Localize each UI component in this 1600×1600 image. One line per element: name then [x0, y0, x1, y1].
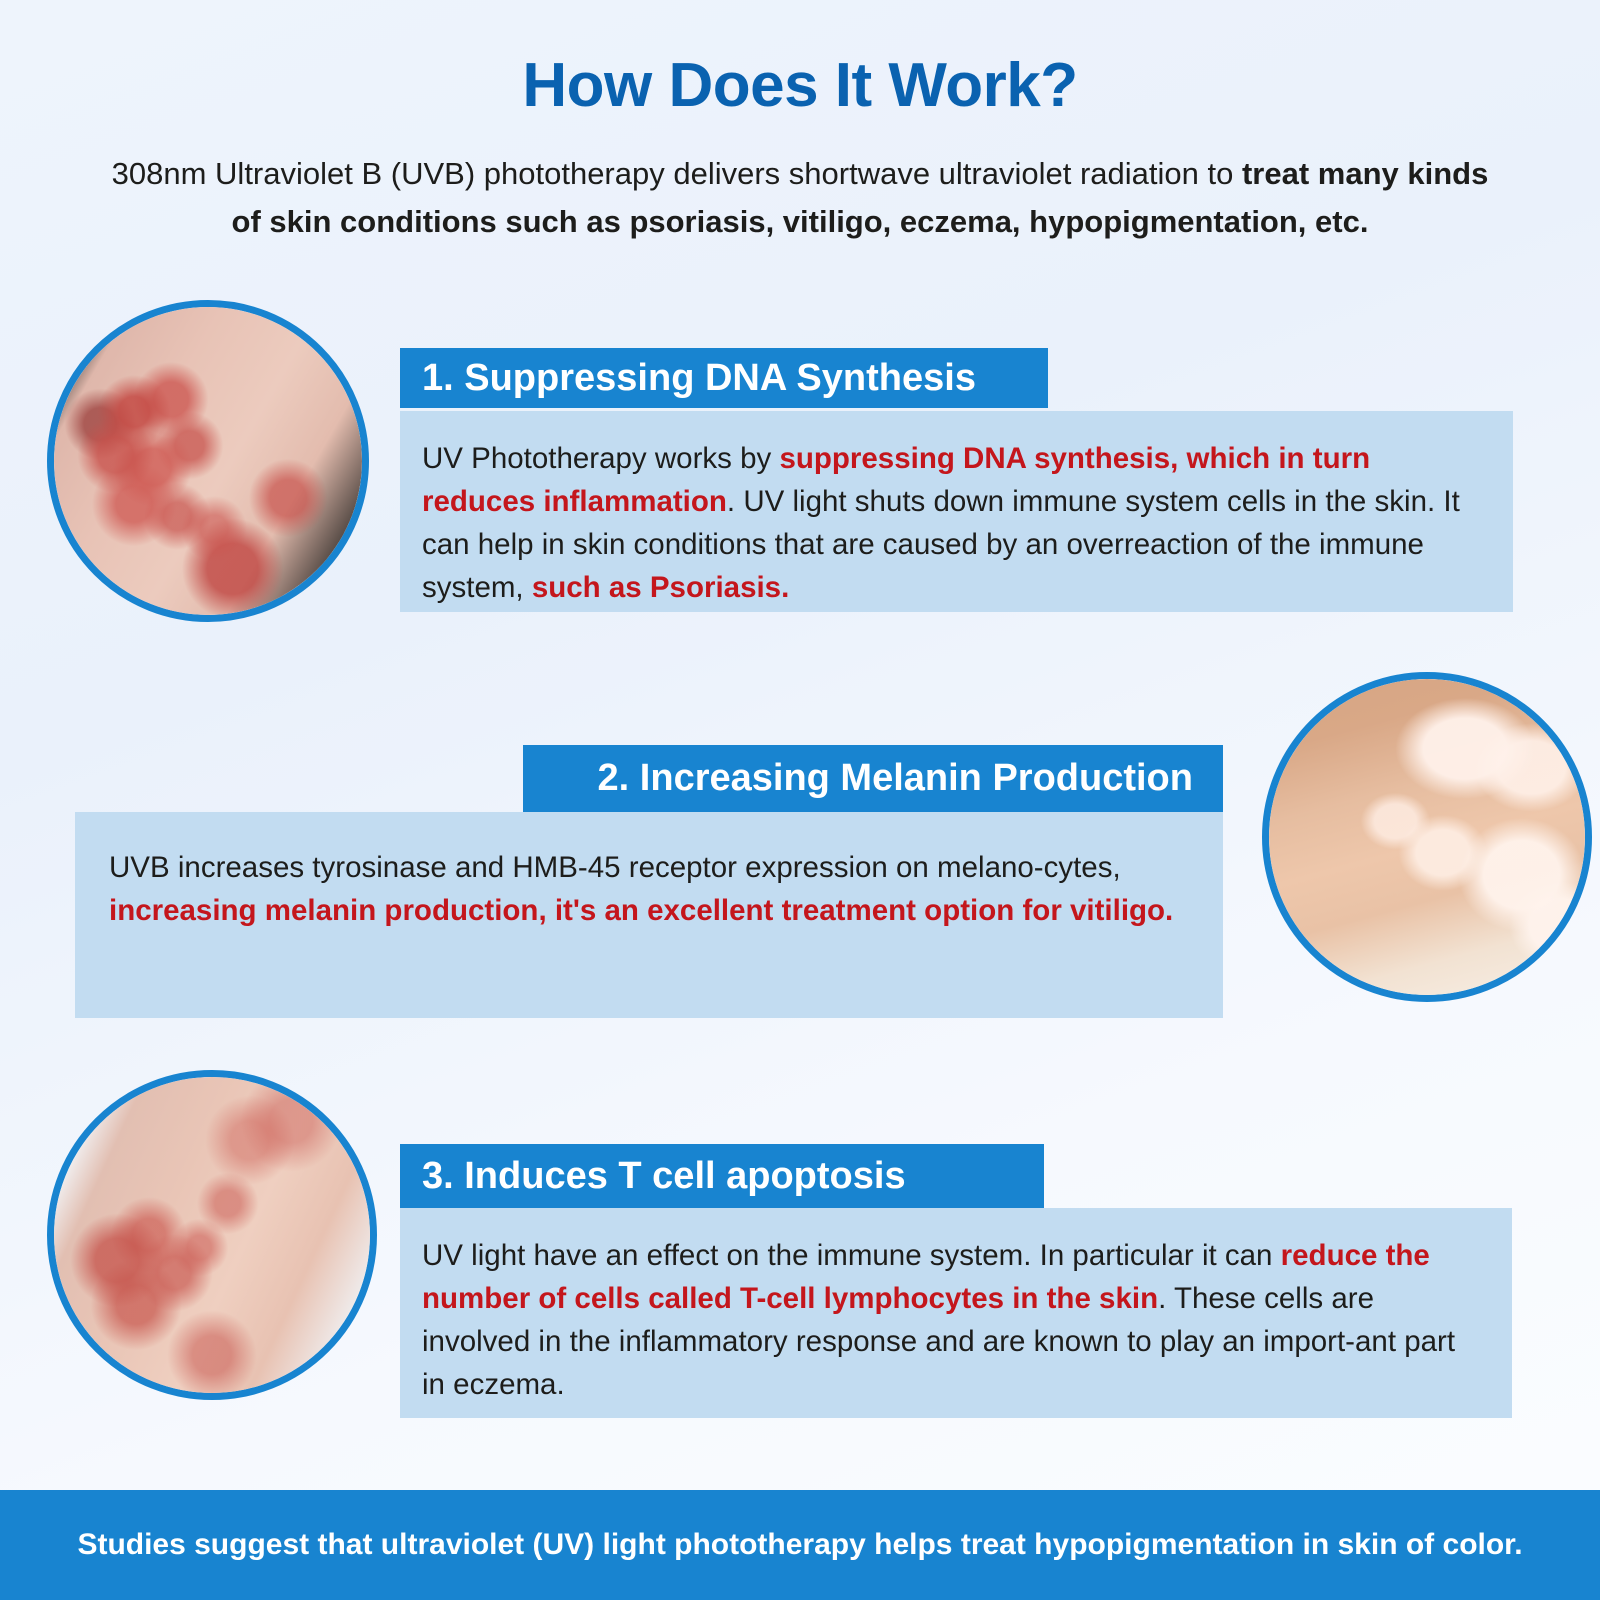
plain-text-0: UVB increases tyrosinase and HMB-45 rece… — [109, 851, 1121, 884]
highlight-text-3: such as Psoriasis. — [532, 571, 789, 604]
plain-text-0: UV light have an effect on the immune sy… — [422, 1239, 1281, 1272]
section-1-body: UV Phototherapy works by suppressing DNA… — [400, 411, 1513, 612]
footer-banner: Studies suggest that ultraviolet (UV) li… — [0, 1490, 1600, 1600]
section-3-heading: 3. Induces T cell apoptosis — [400, 1144, 1044, 1208]
section-2-heading: 2. Increasing Melanin Production — [523, 745, 1223, 812]
intro-text-plain: 308nm Ultraviolet B (UVB) phototherapy d… — [112, 156, 1242, 191]
section-1-heading: 1. Suppressing DNA Synthesis — [400, 348, 1048, 408]
footer-text: Studies suggest that ultraviolet (UV) li… — [47, 1528, 1552, 1562]
page-title: How Does It Work? — [0, 50, 1600, 121]
section-3-body: UV light have an effect on the immune sy… — [400, 1208, 1512, 1418]
highlight-text-1: increasing melanin production, it's an e… — [109, 894, 1173, 927]
plain-text-0: UV Phototherapy works by — [422, 442, 779, 475]
photo-psoriasis-image — [54, 307, 362, 615]
section-3-heading-text: 3. Induces T cell apoptosis — [422, 1155, 906, 1198]
section-1-heading-text: 1. Suppressing DNA Synthesis — [422, 357, 976, 400]
section-2-body: UVB increases tyrosinase and HMB-45 rece… — [75, 812, 1223, 1018]
photo-vitiligo — [1262, 672, 1592, 1002]
photo-vitiligo-image — [1269, 679, 1585, 995]
photo-eczema-image — [54, 1077, 370, 1393]
photo-eczema — [47, 1070, 377, 1400]
photo-psoriasis — [47, 300, 369, 622]
intro-paragraph: 308nm Ultraviolet B (UVB) phototherapy d… — [100, 150, 1500, 246]
section-2-heading-text: 2. Increasing Melanin Production — [598, 757, 1193, 800]
infographic-canvas: How Does It Work? 308nm Ultraviolet B (U… — [0, 0, 1600, 1600]
